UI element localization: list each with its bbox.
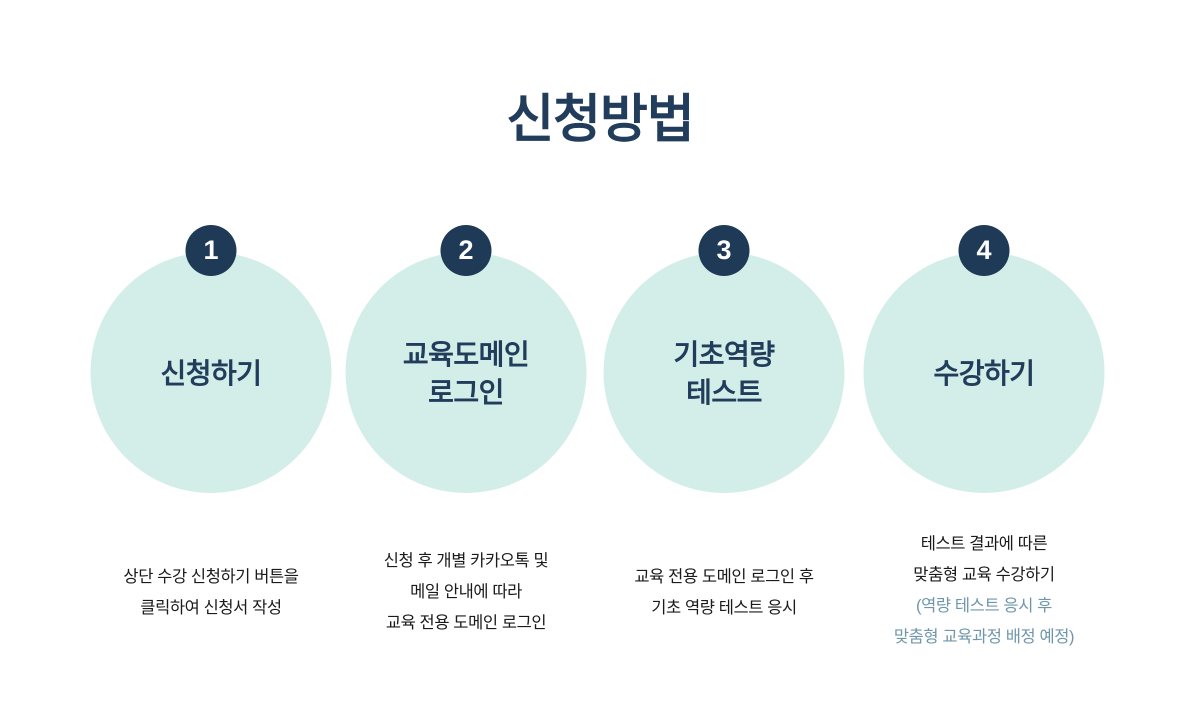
step-caption-1: 상단 수강 신청하기 버튼을 클릭하여 신청서 작성 <box>66 531 356 624</box>
step-circle-2: 교육도메인 로그인 <box>346 252 587 493</box>
page-title: 신청방법 <box>0 87 1200 153</box>
step-number-badge-3: 3 <box>699 225 750 276</box>
step-caption-note-4: (역량 테스트 응시 후 맞춤형 교육과정 배정 예정) <box>839 591 1129 653</box>
step-item-2: 2 교육도메인 로그인 신청 후 개별 카카오톡 및 메일 안내에 따라 교육 … <box>337 225 595 655</box>
step-caption-2: 신청 후 개별 카카오톡 및 메일 안내에 따라 교육 전용 도메인 로그인 <box>321 515 611 639</box>
step-caption-text-3: 교육 전용 도메인 로그인 후 기초 역량 테스트 응시 <box>634 568 813 617</box>
steps-container: 1 신청하기 상단 수강 신청하기 버튼을 클릭하여 신청서 작성 2 교육도메… <box>0 225 1200 655</box>
step-circle-label-3: 기초역량 테스트 <box>673 334 774 412</box>
step-circle-1: 신청하기 <box>91 252 332 493</box>
step-item-4: 4 수강하기 테스트 결과에 따른 맞춤형 교육 수강하기 (역량 테스트 응시… <box>855 225 1113 655</box>
step-circle-label-2: 교육도메인 로그인 <box>403 334 529 412</box>
step-caption-text-2: 신청 후 개별 카카오톡 및 메일 안내에 따라 교육 전용 도메인 로그인 <box>384 552 549 632</box>
step-item-3: 3 기초역량 테스트 교육 전용 도메인 로그인 후 기초 역량 테스트 응시 <box>595 225 853 655</box>
step-circle-label-1: 신청하기 <box>160 353 261 393</box>
step-caption-text-4: 테스트 결과에 따른 맞춤형 교육 수강하기 <box>913 535 1054 584</box>
step-circle-4: 수강하기 <box>864 252 1105 493</box>
step-caption-4: 테스트 결과에 따른 맞춤형 교육 수강하기 (역량 테스트 응시 후 맞춤형 … <box>839 498 1129 684</box>
step-circle-label-4: 수강하기 <box>933 353 1034 393</box>
step-caption-3: 교육 전용 도메인 로그인 후 기초 역량 테스트 응시 <box>579 531 869 624</box>
application-steps-infographic: 신청방법 1 신청하기 상단 수강 신청하기 버튼을 클릭하여 신청서 작성 2… <box>0 0 1200 701</box>
step-number-badge-1: 1 <box>186 225 237 276</box>
step-number-badge-4: 4 <box>959 225 1010 276</box>
step-circle-3: 기초역량 테스트 <box>604 252 845 493</box>
step-item-1: 1 신청하기 상단 수강 신청하기 버튼을 클릭하여 신청서 작성 <box>82 225 340 655</box>
step-number-badge-2: 2 <box>441 225 492 276</box>
step-caption-text-1: 상단 수강 신청하기 버튼을 클릭하여 신청서 작성 <box>123 568 298 617</box>
